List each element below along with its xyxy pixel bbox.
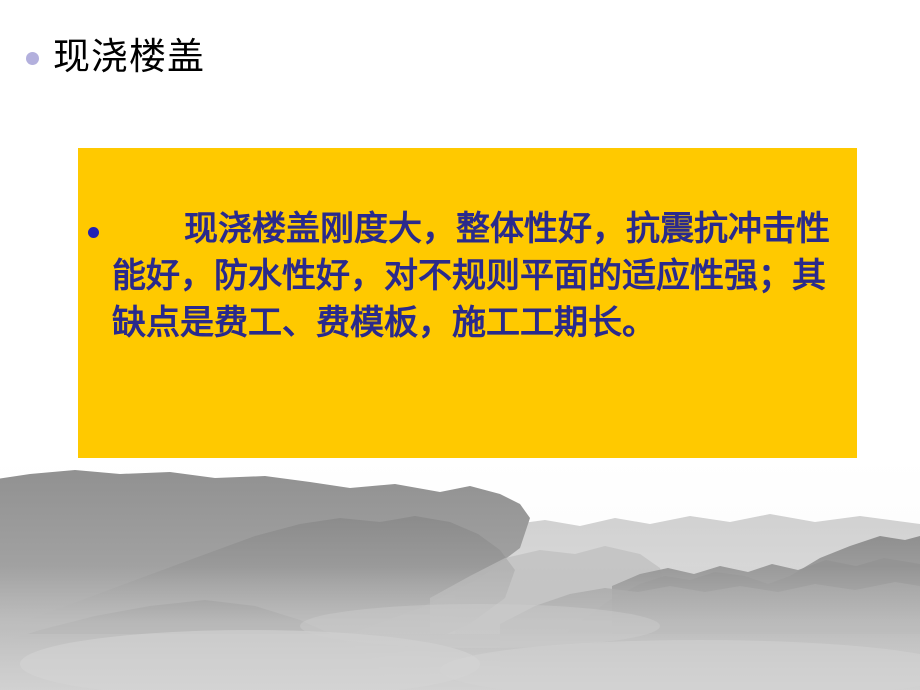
content-callout-box: 现浇楼盖刚度大，整体性好，抗震抗冲击性能好，防水性好，对不规则平面的适应性强；其… xyxy=(78,148,857,461)
content-paragraph: 现浇楼盖刚度大，整体性好，抗震抗冲击性能好，防水性好，对不规则平面的适应性强；其… xyxy=(112,206,849,347)
slide-canvas: 现浇楼盖 现浇楼盖刚度大，整体性好，抗震抗冲击性能好，防水性好，对不规则平面的适… xyxy=(0,0,920,690)
page-title: 现浇楼盖 xyxy=(53,36,205,80)
misty-mountains-photo xyxy=(0,458,920,690)
disc-bullet-icon xyxy=(88,227,99,238)
slide-title-row: 现浇楼盖 xyxy=(26,36,205,80)
disc-bullet-icon xyxy=(26,52,39,65)
